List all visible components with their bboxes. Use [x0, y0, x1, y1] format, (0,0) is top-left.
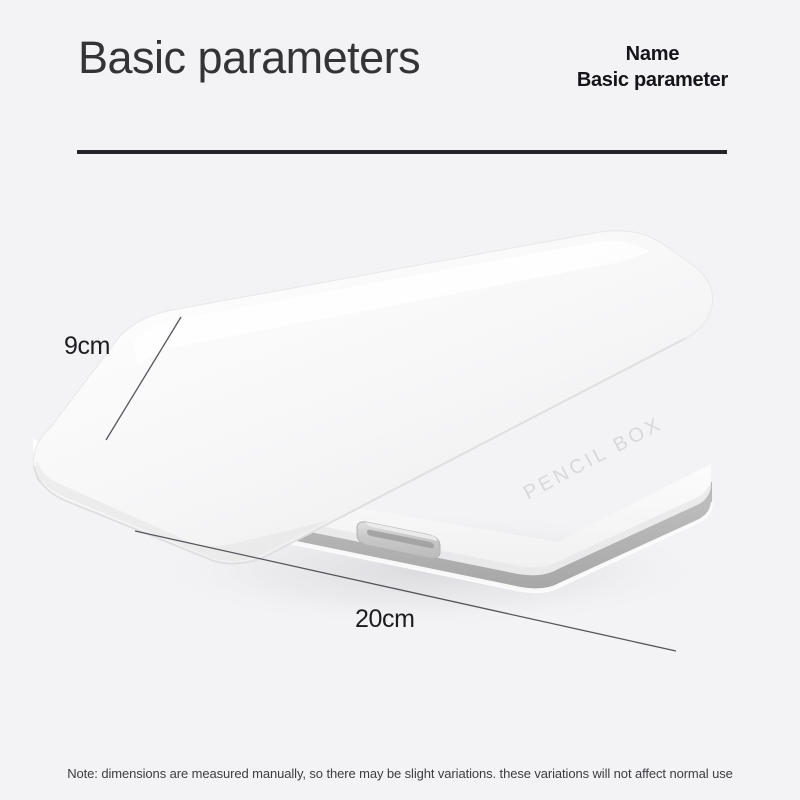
- product-image-stage: PENCIL BOX: [0, 170, 800, 730]
- page-title: Basic parameters: [78, 32, 420, 84]
- pencil-box-illustration: PENCIL BOX: [0, 170, 800, 730]
- dimension-label-width: 20cm: [355, 605, 415, 634]
- page-header: Basic parameters Name Basic parameter: [0, 0, 800, 170]
- spec-key-label: Name: [577, 42, 728, 68]
- spec-name-block: Name Basic parameter: [577, 42, 728, 93]
- pencil-box-emboss-text: PENCIL BOX: [520, 413, 667, 505]
- dimension-label-height: 9cm: [64, 332, 110, 361]
- footer-note: Note: dimensions are measured manually, …: [0, 766, 800, 781]
- header-divider: [77, 150, 727, 154]
- spec-value-label: Basic parameter: [577, 68, 728, 94]
